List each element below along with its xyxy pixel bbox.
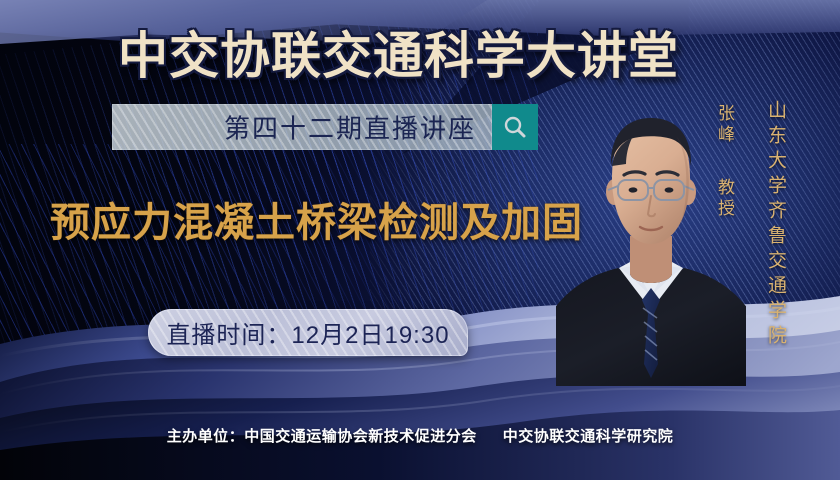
footer-organizer-2: 中交协联交通科学研究院 (503, 428, 674, 445)
page-title: 中交协联交通科学大讲堂 (118, 16, 679, 88)
speaker-role: 教授 (712, 178, 737, 220)
search-icon-button[interactable] (492, 104, 538, 150)
footer-organizer-1: 中国交通运输协会新技术促进分会 (244, 428, 477, 445)
webinar-poster: 中交协联交通科学大讲堂 第四十二期直播讲座 预应力混凝土桥梁检测及加固 直播时间… (0, 0, 840, 480)
topic-title: 预应力混凝土桥梁检测及加固 (50, 190, 583, 248)
speaker-name: 张峰 (712, 104, 737, 146)
speaker-organization: 山东大学齐鲁交通学院 (762, 100, 789, 350)
footer-prefix: 主办单位： (167, 428, 245, 445)
series-label-text: 第四十二期直播讲座 (224, 109, 476, 146)
series-label-bar: 第四十二期直播讲座 (112, 104, 492, 150)
footer-organizers: 主办单位：中国交通运输协会新技术促进分会中交协联交通科学研究院 (0, 425, 840, 446)
search-icon (502, 114, 528, 140)
broadcast-time-pill: 直播时间：12月2日19:30 (148, 309, 468, 356)
broadcast-time-text: 直播时间：12月2日19:30 (148, 309, 468, 356)
